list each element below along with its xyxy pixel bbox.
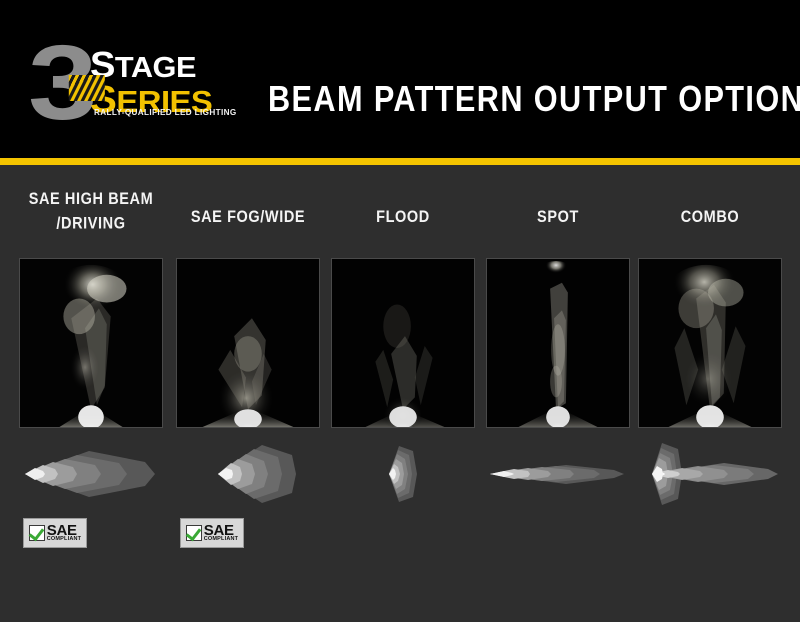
stage-series-logo: 3 STAGE SERIES RALLY-QUALIFIED LED LIGHT… [28, 28, 238, 136]
beam-pattern-poster: 3 STAGE SERIES RALLY-QUALIFIED LED LIGHT… [0, 0, 800, 622]
beam-column-label: COMBO [638, 205, 782, 230]
beam-photo-combo [638, 258, 782, 428]
beam-column-sae-fog-wide: SAE FOG/WIDE [176, 165, 320, 622]
beam-diagram-round-flood [331, 443, 475, 505]
beam-photo-sae-fog-wide [176, 258, 320, 428]
beam-diagram-wide-short-fan [176, 443, 320, 505]
beam-column-label: FLOOD [331, 205, 475, 230]
green-checkmark-icon [186, 525, 202, 541]
beam-column-label: SPOT [486, 205, 630, 230]
badge-subtitle: COMPLIANT [47, 537, 82, 543]
beam-column-spot: SPOT [486, 165, 630, 622]
beam-column-combo: COMBO [638, 165, 782, 622]
beam-diagram-combo-spot-plus-flood [638, 443, 782, 505]
beam-column-label: SAE HIGH BEAM /DRIVING [19, 187, 163, 237]
logo-word-stage: STAGE [90, 48, 249, 82]
beam-column-label: SAE FOG/WIDE [176, 205, 320, 230]
beam-columns: SAE HIGH BEAM /DRIVING [0, 165, 800, 622]
beam-diagram-narrow-long-pencil [486, 443, 630, 505]
page-title: BEAM PATTERN OUTPUT OPTIONS [268, 78, 800, 120]
green-checkmark-icon [29, 525, 45, 541]
sae-compliant-badge: SAE COMPLIANT [180, 518, 244, 548]
beam-column-flood: FLOOD [331, 165, 475, 622]
yellow-divider [0, 158, 800, 165]
logo-tagline: RALLY-QUALIFIED LED LIGHTING [94, 108, 237, 117]
beam-photo-spot [486, 258, 630, 428]
sae-compliant-badge: SAE COMPLIANT [23, 518, 87, 548]
beam-photo-sae-high-beam-driving [19, 258, 163, 428]
poster-header: 3 STAGE SERIES RALLY-QUALIFIED LED LIGHT… [0, 0, 800, 158]
beam-column-sae-high-beam-driving: SAE HIGH BEAM /DRIVING [19, 165, 163, 622]
poster-body: SAE HIGH BEAM /DRIVING [0, 165, 800, 622]
logo-stripe-hatch-icon [69, 75, 105, 101]
badge-subtitle: COMPLIANT [204, 537, 239, 543]
beam-photo-flood [331, 258, 475, 428]
beam-diagram-wide-long-taper [19, 443, 163, 505]
